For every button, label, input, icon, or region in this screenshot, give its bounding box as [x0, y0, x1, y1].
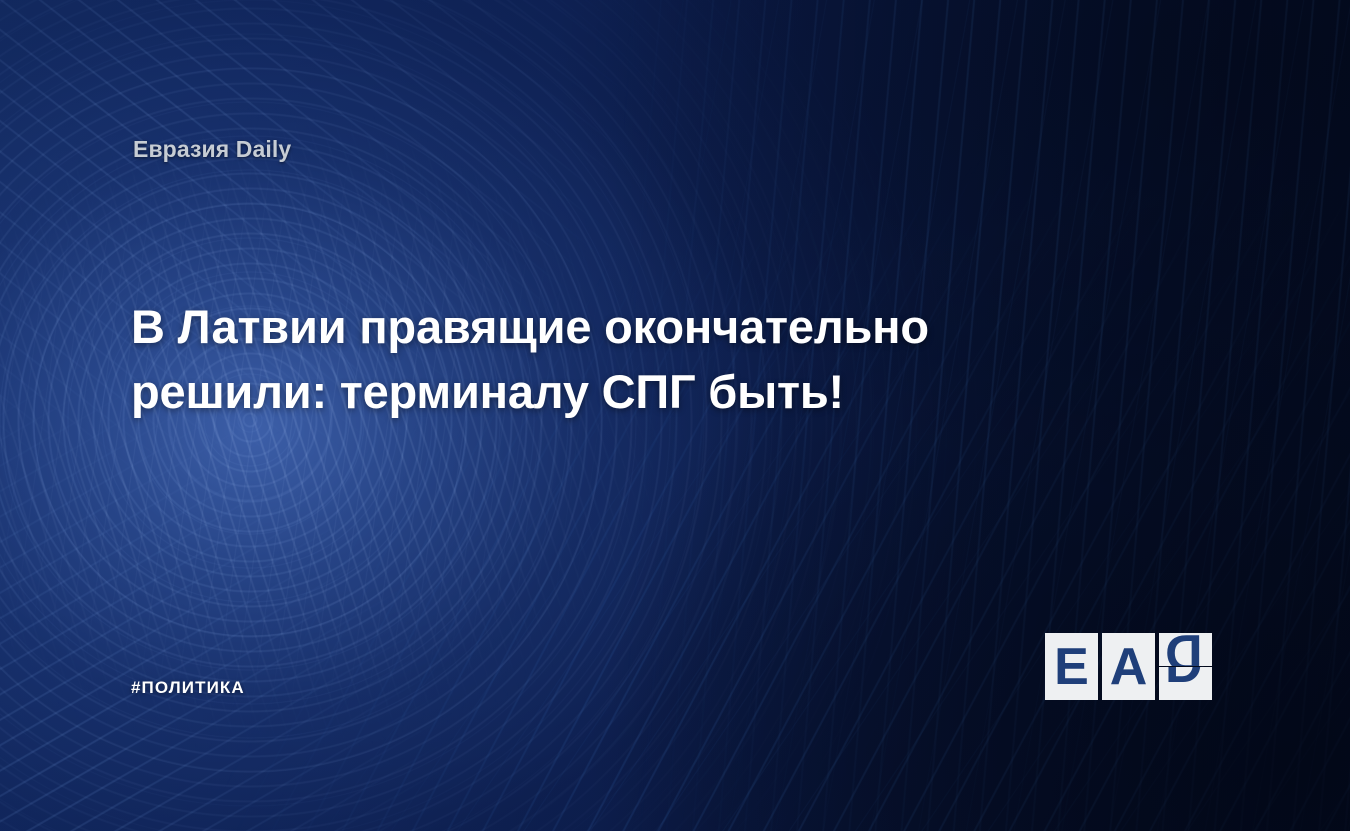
- category-hashtag: #ПОЛИТИКА: [131, 678, 245, 698]
- logo-tile-a: A: [1102, 633, 1155, 700]
- logo-tile-d-top: D: [1159, 633, 1212, 666]
- logo-tile-e: E: [1045, 633, 1098, 700]
- site-name: Евразия Daily: [133, 136, 291, 163]
- logo-letter-d-bottom: D: [1165, 667, 1203, 691]
- page-title: В Латвии правящие окончательно решили: т…: [131, 295, 1081, 424]
- logo-tile-d-bottom: D: [1159, 667, 1212, 700]
- logo-letter-d-top: D: [1165, 633, 1203, 666]
- card-content: Евразия Daily В Латвии правящие окончате…: [0, 0, 1350, 831]
- share-card: Евразия Daily В Латвии правящие окончате…: [0, 0, 1350, 831]
- logo-tile-d-split: D D: [1159, 633, 1212, 700]
- eadaily-logo: E A D D: [1045, 633, 1221, 700]
- logo-letter-a: A: [1110, 641, 1148, 693]
- logo-letter-e: E: [1054, 641, 1089, 693]
